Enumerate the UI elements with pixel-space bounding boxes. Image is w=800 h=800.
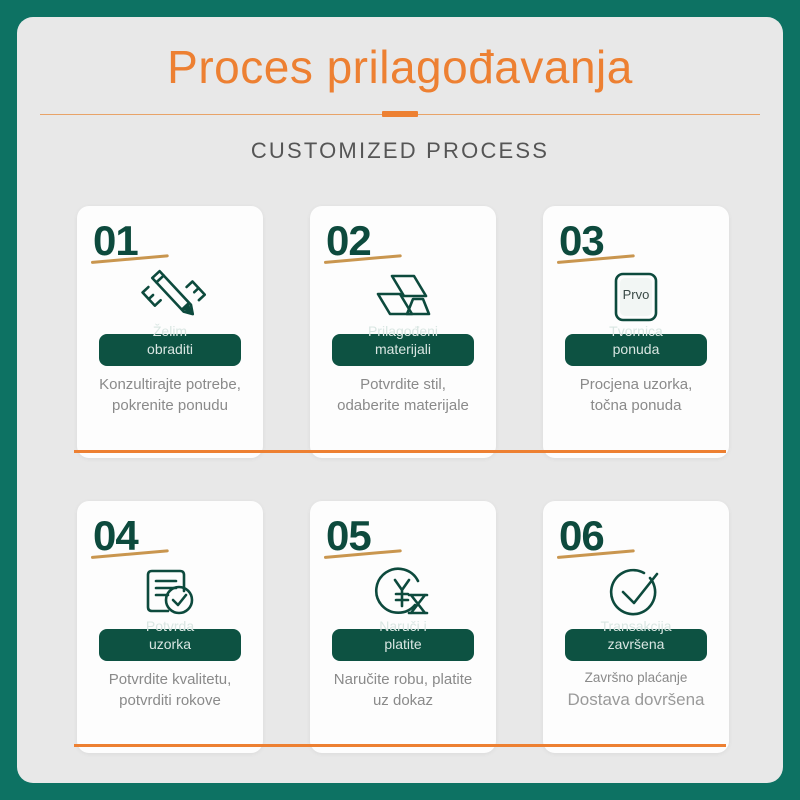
step-card-04[interactable]: 04 Potvrda uzorka Potvrdite kva [77, 501, 263, 753]
step-label-line1: Naruči i [332, 616, 474, 636]
step-card-02[interactable]: 02 Prilagođeni materijali Potvrdite stil… [310, 206, 496, 458]
step-label-pill: Potvrda uzorka [99, 629, 241, 661]
step-description: Naručite robu, platite uz dokaz [316, 669, 490, 711]
step-description: Konzultirajte potrebe, pokrenite ponudu [83, 374, 257, 416]
step-desc-line1: Procjena uzorka, [580, 376, 693, 393]
divider-accent-dash [382, 111, 418, 117]
step-label-line1: Transakcija [565, 616, 707, 636]
step-label-line1: Želim [99, 321, 241, 341]
step-description: Završno plaćanje Dostava dovršena [549, 667, 723, 712]
step-desc-line2: Dostava dovršena [549, 688, 723, 712]
steps-row-bottom: ❯ ❯ ❯ 04 Potvrda [17, 501, 783, 759]
step-label-line2: uzorka [99, 634, 241, 654]
step-description: Procjena uzorka, točna ponuda [549, 374, 723, 416]
page-title: Proces prilagođavanja [17, 17, 783, 94]
step-label-line2: obraditi [99, 339, 241, 359]
step-label-line1: Potvrda [99, 616, 241, 636]
step-card-03[interactable]: 03 Prvo Tvornica ponuda Procjena uzorka, [543, 206, 729, 458]
step-desc-line2: potvrditi rokove [119, 692, 221, 709]
content-panel: Proces prilagođavanja CUSTOMIZED PROCESS… [17, 17, 783, 783]
step-description: Potvrdite kvalitetu, potvrditi rokove [83, 669, 257, 711]
steps-row-top: ❯ ❯ ❯ 01 [17, 206, 783, 464]
step-label-pill: Naruči i platite [332, 629, 474, 661]
step-card-05[interactable]: 05 Naruči i platite Naručite robu, plati… [310, 501, 496, 753]
step-desc-line1: Potvrdite stil, [360, 376, 446, 393]
page-header: Proces prilagođavanja CUSTOMIZED PROCESS [17, 17, 783, 164]
connector-line-top [74, 450, 726, 453]
step-label-line1: Prilagođeni [332, 321, 474, 341]
step-desc-line2: uz dokaz [373, 692, 433, 709]
page-subtitle: CUSTOMIZED PROCESS [17, 120, 783, 164]
step-desc-line2: odaberite materijale [337, 397, 469, 414]
step-desc-line1: Konzultirajte potrebe, [99, 376, 241, 393]
title-divider [17, 110, 783, 120]
step-label-pill: Želim obraditi [99, 334, 241, 366]
step-label-pill: Prilagođeni materijali [332, 334, 474, 366]
step-label-pill: Tvornica ponuda [565, 334, 707, 366]
factory-icon-text: Prvo [623, 287, 650, 302]
step-label-line1: Tvornica [565, 321, 707, 341]
step-desc-line1: Završno plaćanje [585, 670, 688, 685]
step-desc-line1: Potvrdite kvalitetu, [109, 671, 232, 688]
step-card-06[interactable]: 06 Transakcija završena Završno plaćanje… [543, 501, 729, 753]
step-label-line2: ponuda [565, 339, 707, 359]
step-label-line2: platite [332, 634, 474, 654]
step-label-line2: materijali [332, 339, 474, 359]
step-desc-line1: Naručite robu, platite [334, 671, 472, 688]
step-card-01[interactable]: 01 [77, 206, 263, 458]
step-description: Potvrdite stil, odaberite materijale [316, 374, 490, 416]
step-label-line2: završena [565, 634, 707, 654]
step-desc-line2: točna ponuda [591, 397, 682, 414]
step-label-pill: Transakcija završena [565, 629, 707, 661]
step-desc-line2: pokrenite ponudu [112, 397, 228, 414]
connector-line-bottom [74, 744, 726, 747]
page-root: Proces prilagođavanja CUSTOMIZED PROCESS… [0, 0, 800, 800]
